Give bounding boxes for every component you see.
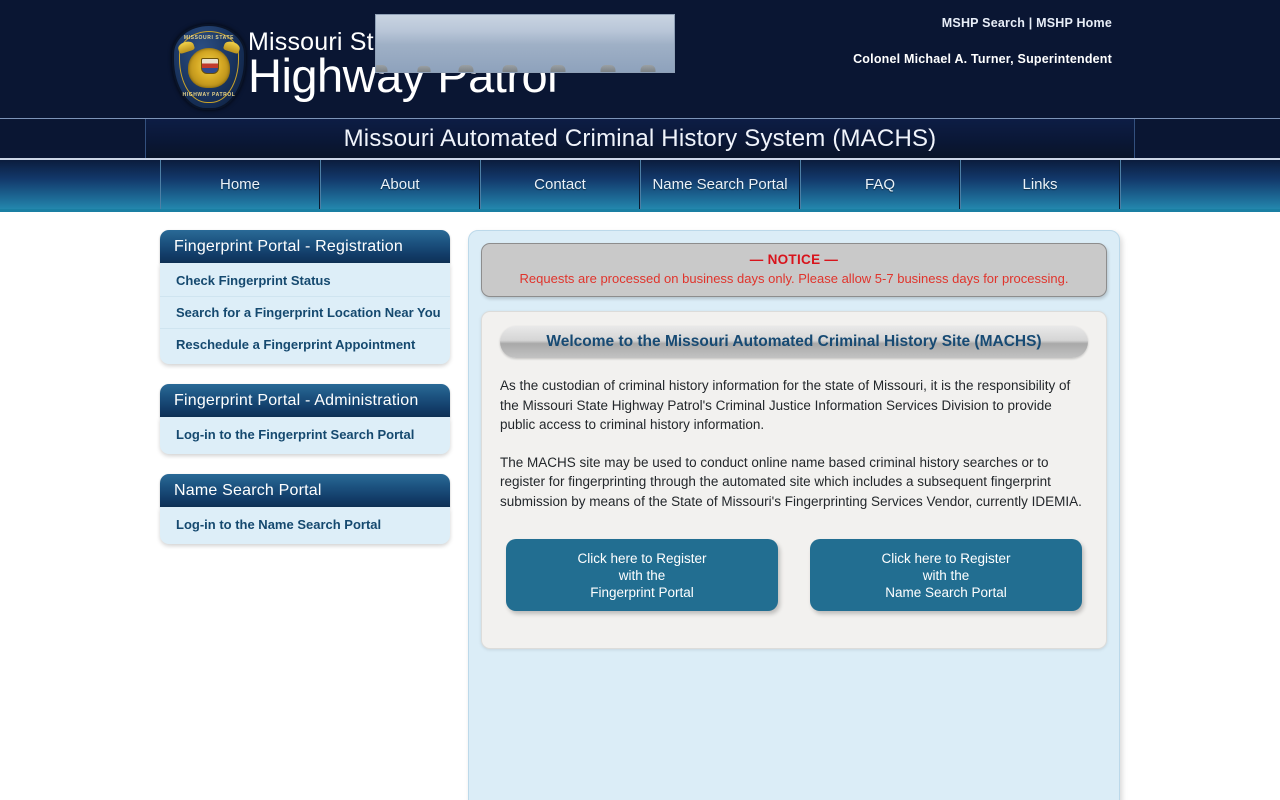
panel-title: Name Search Portal: [174, 482, 322, 500]
intro-paragraph-2: The MACHS site may be used to conduct on…: [500, 453, 1088, 512]
notice-title: — NOTICE —: [492, 252, 1096, 267]
panel-fingerprint-registration: Fingerprint Portal - Registration Check …: [160, 230, 450, 364]
sidebar-link-search-fingerprint-location[interactable]: Search for a Fingerprint Location Near Y…: [160, 297, 450, 329]
main-content-panel: — NOTICE — Requests are processed on bus…: [468, 230, 1120, 800]
panel-header: Name Search Portal: [160, 474, 450, 507]
nav-item-about[interactable]: About: [320, 160, 480, 209]
cta2-line1: Click here to Register: [881, 551, 1010, 566]
nav-item-contact[interactable]: Contact: [480, 160, 640, 209]
panel-header: Fingerprint Portal - Registration: [160, 230, 450, 263]
nav-item-faq[interactable]: FAQ: [800, 160, 960, 209]
machs-titlebar: Missouri Automated Criminal History Syst…: [145, 119, 1135, 158]
panel-body: Log-in to the Name Search Portal: [160, 507, 450, 544]
panel-header: Fingerprint Portal - Administration: [160, 384, 450, 417]
register-name-search-portal-button[interactable]: Click here to Register with the Name Sea…: [810, 539, 1082, 611]
panel-name-search-portal: Name Search Portal Log-in to the Name Se…: [160, 474, 450, 544]
cta1-line1: Click here to Register: [577, 551, 706, 566]
badge-top-text: MISSOURI STATE: [172, 35, 246, 41]
welcome-heading-bar: Welcome to the Missouri Automated Crimin…: [500, 326, 1088, 358]
welcome-card: Welcome to the Missouri Automated Crimin…: [481, 311, 1107, 649]
notice-box: — NOTICE — Requests are processed on bus…: [481, 243, 1107, 297]
nav-trailing-spacer: [1120, 160, 1280, 209]
page-body: Fingerprint Portal - Registration Check …: [0, 212, 1280, 800]
header-links[interactable]: MSHP Search | MSHP Home: [942, 16, 1112, 30]
register-fingerprint-portal-button[interactable]: Click here to Register with the Fingerpr…: [506, 539, 778, 611]
panel-title: Fingerprint Portal - Administration: [174, 392, 418, 410]
badge-bottom-text: HIGHWAY PATROL: [172, 92, 246, 98]
trooper-banner-photo: [375, 14, 675, 73]
cta-button-row: Click here to Register with the Fingerpr…: [496, 539, 1092, 611]
main-navigation: Home About Contact Name Search Portal FA…: [0, 160, 1280, 212]
nav-item-name-search-portal[interactable]: Name Search Portal: [640, 160, 800, 209]
header-links-text[interactable]: MSHP Search | MSHP Home: [942, 16, 1112, 30]
nav-item-links[interactable]: Links: [960, 160, 1120, 209]
machs-titlebar-wrap: Missouri Automated Criminal History Syst…: [0, 118, 1280, 160]
superintendent-text: Colonel Michael A. Turner, Superintenden…: [853, 52, 1112, 66]
site-header: MISSOURI STATE HIGHWAY PATROL Missouri S…: [0, 0, 1280, 118]
welcome-title: Welcome to the Missouri Automated Crimin…: [546, 333, 1041, 351]
nav-item-home[interactable]: Home: [160, 160, 320, 209]
sidebar-link-login-name-search-portal[interactable]: Log-in to the Name Search Portal: [160, 509, 450, 540]
cta2-line2: with the: [923, 568, 970, 583]
sidebar-link-check-fingerprint-status[interactable]: Check Fingerprint Status: [160, 265, 450, 297]
panel-title: Fingerprint Portal - Registration: [174, 238, 403, 256]
cta1-line2: with the: [619, 568, 666, 583]
sidebar: Fingerprint Portal - Registration Check …: [160, 230, 450, 564]
notice-text: Requests are processed on business days …: [492, 271, 1096, 286]
intro-paragraph-1: As the custodian of criminal history inf…: [500, 376, 1088, 435]
sidebar-link-login-fingerprint-search-portal[interactable]: Log-in to the Fingerprint Search Portal: [160, 419, 450, 450]
sidebar-link-reschedule-appointment[interactable]: Reschedule a Fingerprint Appointment: [160, 329, 450, 360]
badge-eagle-emblem-icon: [188, 48, 230, 88]
cta1-line3: Fingerprint Portal: [590, 585, 694, 600]
cta2-line3: Name Search Portal: [885, 585, 1007, 600]
page-root: MISSOURI STATE HIGHWAY PATROL Missouri S…: [0, 0, 1280, 800]
panel-fingerprint-administration: Fingerprint Portal - Administration Log-…: [160, 384, 450, 454]
panel-body: Check Fingerprint Status Search for a Fi…: [160, 263, 450, 364]
mshp-badge-logo: MISSOURI STATE HIGHWAY PATROL: [172, 24, 246, 110]
panel-body: Log-in to the Fingerprint Search Portal: [160, 417, 450, 454]
page-title: Missouri Automated Criminal History Syst…: [344, 125, 937, 153]
